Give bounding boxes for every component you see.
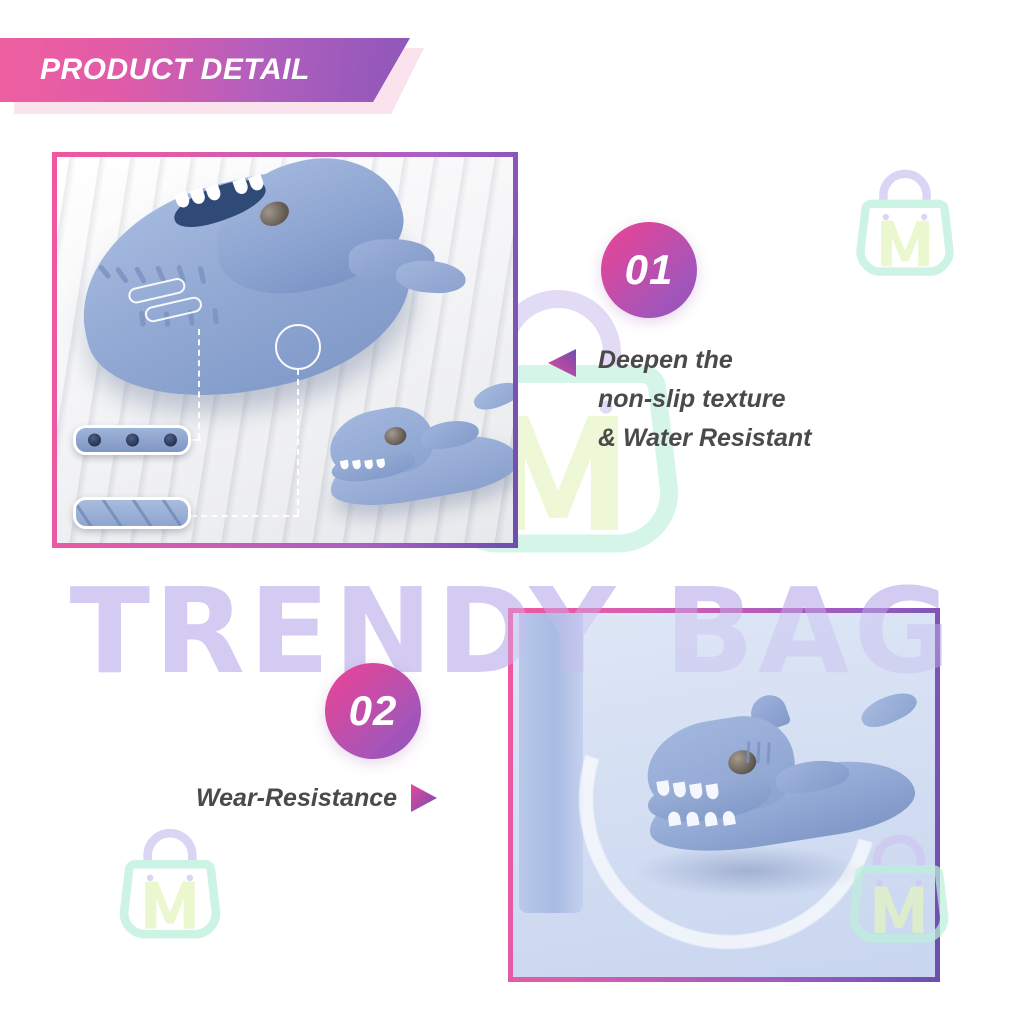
photo-1-inner [57, 157, 513, 543]
triangle-left-icon [546, 347, 576, 379]
feature-number-01: 01 [625, 246, 674, 294]
banner-body: PRODUCT DETAIL [0, 38, 410, 102]
triangle-right-icon [409, 782, 439, 814]
shopping-bag-m-logo [108, 822, 232, 946]
feature-caption-01: Deepen the non-slip texture & Water Resi… [598, 341, 812, 457]
photo-top-down-shark-slippers [52, 152, 518, 548]
photo-floating-shark-slipper [508, 608, 940, 982]
leader-line-vertical [198, 329, 200, 439]
feature-line: non-slip texture [598, 380, 812, 419]
leader-line-horizontal [191, 515, 299, 517]
shopping-bag-m-logo [845, 163, 965, 283]
feature-badge-02: 02 [325, 663, 421, 759]
page-header-banner: PRODUCT DETAIL [0, 38, 440, 112]
feature-line: Deepen the [598, 341, 812, 380]
tread-stripe-detail-callout [73, 497, 191, 529]
leader-line-horizontal [191, 439, 201, 441]
backdrop-cylinder [519, 613, 583, 913]
feature-badge-01: 01 [601, 222, 697, 318]
feature-caption-02: Wear-Resistance [196, 779, 439, 818]
leader-line-vertical [297, 369, 299, 515]
feature-number-02: 02 [349, 687, 398, 735]
feature-line: & Water Resistant [598, 419, 812, 458]
page-title: PRODUCT DETAIL [0, 53, 310, 87]
photo-2-inner [513, 613, 935, 977]
drain-hole-detail-callout [73, 425, 191, 455]
feature-line: Wear-Resistance [196, 779, 397, 818]
detail-zoom-ring [275, 324, 321, 370]
